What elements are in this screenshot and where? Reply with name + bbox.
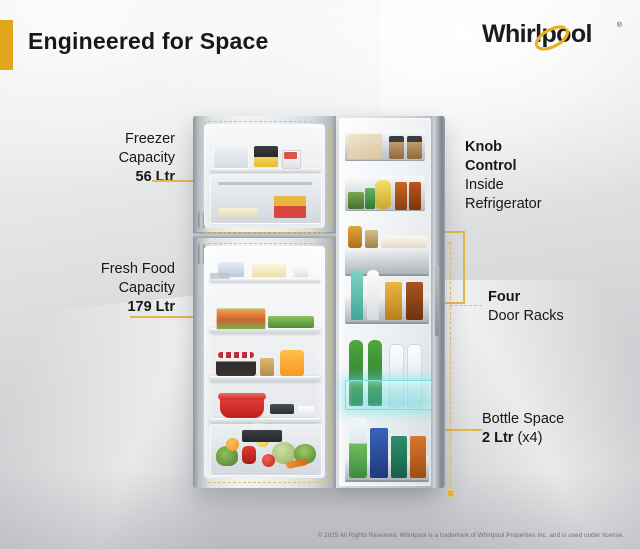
callout-door-racks: Four Door Racks — [488, 288, 628, 326]
freezer-door-item-bottle-2 — [409, 182, 421, 210]
door-item-teal-bottle — [351, 270, 363, 320]
door-rack-3-bottle-space — [345, 380, 433, 410]
door-item-honey-jar — [348, 226, 362, 248]
door-item-green-tin — [391, 436, 407, 478]
freezer-door-item-veg-bag — [348, 192, 364, 209]
callout-knob-control: Knob Control Inside Refrigerator — [465, 138, 625, 215]
racks-bold: Four — [488, 288, 628, 307]
freezer-door-item-pack — [348, 134, 382, 159]
freezer-door-item-cup-1 — [389, 136, 404, 159]
door-outer-edge — [431, 116, 445, 488]
door-item-spice-jar — [365, 230, 378, 248]
freezer-door-item-green-pack — [365, 188, 375, 209]
freezer-line2: Capacity — [40, 149, 175, 168]
freezer-line1: Freezer — [40, 130, 175, 149]
connector-knob-vertical — [463, 232, 465, 303]
fresh-line1: Fresh Food — [22, 260, 175, 279]
freezer-door-item-bottle-1 — [395, 182, 407, 210]
bottle-value: 2 Ltr — [482, 430, 513, 446]
door-liner — [339, 118, 431, 486]
freezer-door-item-corn — [375, 180, 391, 209]
knob-line2: Refrigerator — [465, 195, 625, 214]
door-item-brown-jar — [406, 282, 423, 320]
door-grip — [435, 266, 439, 336]
door-item-milk-carton — [349, 418, 367, 478]
freezer-value: 56 Ltr — [40, 168, 175, 187]
fresh-value: 179 Ltr — [22, 298, 175, 317]
footer-copyright: © 2025 All Rights Reserved. Whirlpool is… — [0, 532, 624, 539]
callout-bottle-space: Bottle Space 2 Ltr (x4) — [482, 410, 632, 448]
door-item-white-bottle — [367, 270, 379, 320]
callout-freezer-capacity: Freezer Capacity 56 Ltr — [40, 130, 175, 187]
connector-door-dash-label — [450, 305, 482, 306]
logo-registered-mark: ® — [617, 22, 622, 29]
connector-door-spine — [450, 242, 451, 494]
bottle-line: Bottle Space — [482, 410, 632, 429]
knob-line1: Inside — [465, 176, 625, 195]
door-item-egg-tray — [381, 236, 427, 248]
knob-bold2: Control — [465, 157, 625, 176]
refrigerator-product-image — [193, 116, 445, 492]
callout-fresh-food-capacity: Fresh Food Capacity 179 Ltr — [22, 260, 175, 317]
door-item-blue-pack — [370, 428, 388, 478]
racks-line: Door Racks — [488, 307, 628, 326]
fresh-line2: Capacity — [22, 279, 175, 298]
bottle-suffix: (x4) — [513, 430, 542, 446]
freezer-capacity-highlight — [201, 121, 331, 233]
refrigerator-door-open — [336, 116, 445, 488]
connector-dot-door-bottom — [447, 490, 454, 497]
door-item-yellow-jar — [385, 282, 402, 320]
fresh-food-capacity-highlight — [201, 243, 331, 483]
freezer-door-item-cup-2 — [407, 136, 422, 159]
door-item-orange-tin — [410, 436, 426, 478]
logo-swoosh-icon — [482, 18, 622, 58]
page-title: Engineered for Space — [28, 28, 268, 55]
knob-bold1: Knob — [465, 138, 625, 157]
promo-canvas: Engineered for Space Whirlpool ® Freezer… — [0, 0, 640, 549]
title-accent-bar — [0, 20, 13, 70]
whirlpool-logo: Whirlpool ® — [482, 18, 622, 58]
